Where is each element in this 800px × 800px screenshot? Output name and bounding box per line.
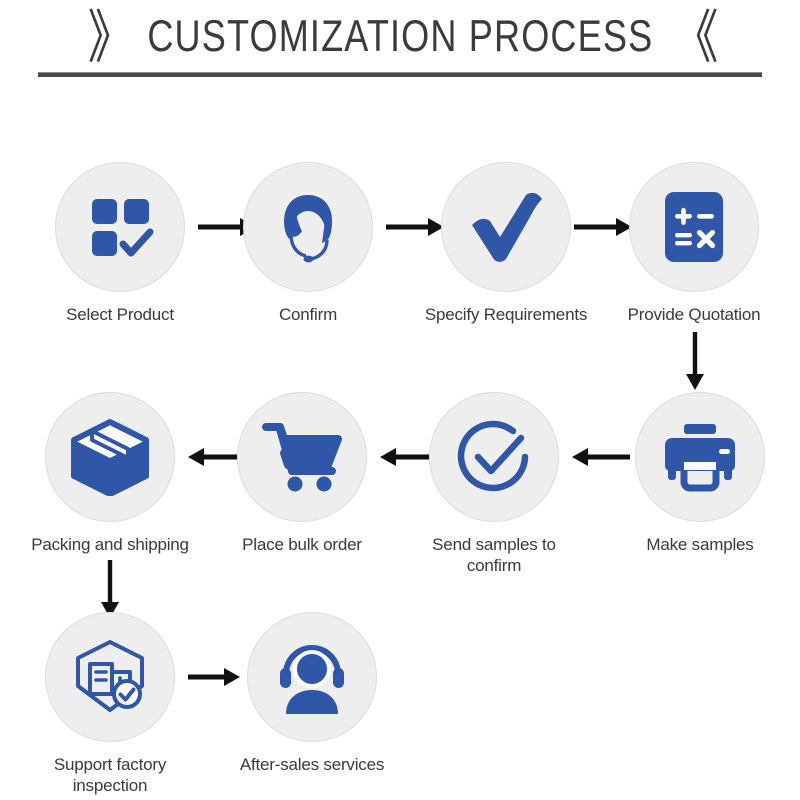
flow-step-send-samples-to-confirm[interactable]: Send samples to confirm <box>410 392 578 576</box>
icon-circle <box>247 612 377 742</box>
icon-circle <box>45 612 175 742</box>
checkmark-icon <box>466 189 546 265</box>
flow-step-provide-quotation[interactable]: Provide Quotation <box>610 162 778 325</box>
flow-step-label: Confirm <box>279 304 337 325</box>
page-title: CUSTOMIZATION PROCESS <box>147 15 653 60</box>
flow-step-label: Support factory inspection <box>54 754 166 796</box>
printer-icon <box>662 422 738 492</box>
arrow-quotation-to-samples <box>681 330 709 392</box>
flow-step-label: Make samples <box>646 534 753 555</box>
icon-circle <box>429 392 559 522</box>
flow-step-after-sales-services[interactable]: After-sales services <box>228 612 396 775</box>
title-divider <box>38 72 762 77</box>
arrow-packing-to-inspection <box>96 558 124 620</box>
icon-circle <box>243 162 373 292</box>
shopping-cart-icon <box>262 421 342 493</box>
flow-step-confirm[interactable]: Confirm <box>224 162 392 325</box>
flow-step-specify-requirements[interactable]: Specify Requirements <box>422 162 590 325</box>
title-row: 》 CUSTOMIZATION PROCESS 《 <box>0 8 800 66</box>
calculator-icon <box>658 188 730 266</box>
circle-check-icon <box>455 418 533 496</box>
flow-step-label: Specify Requirements <box>425 304 587 325</box>
flow-step-label: Provide Quotation <box>628 304 761 325</box>
flow-step-place-bulk-order[interactable]: Place bulk order <box>218 392 386 555</box>
icon-circle <box>635 392 765 522</box>
flow-step-label: Packing and shipping <box>31 534 189 555</box>
factory-inspection-shield-icon <box>70 638 150 716</box>
flow-step-label: Send samples to confirm <box>410 534 578 576</box>
double-chevron-right-icon: 》 <box>88 8 128 66</box>
package-box-icon <box>70 418 150 496</box>
flow-step-make-samples[interactable]: Make samples <box>616 392 784 555</box>
headset-agent-icon <box>269 188 347 266</box>
flow-step-label: Place bulk order <box>242 534 362 555</box>
icon-circle <box>45 392 175 522</box>
icon-circle <box>629 162 759 292</box>
grid-check-icon <box>84 191 156 263</box>
icon-circle <box>441 162 571 292</box>
flow-step-label: After-sales services <box>240 754 384 775</box>
icon-circle <box>237 392 367 522</box>
customer-support-icon <box>272 640 352 714</box>
flow-step-select-product[interactable]: Select Product <box>36 162 204 325</box>
flow-step-label: Select Product <box>66 304 174 325</box>
icon-circle <box>55 162 185 292</box>
page-header: 》 CUSTOMIZATION PROCESS 《 <box>0 0 800 90</box>
double-chevron-left-icon: 《 <box>672 8 712 66</box>
flow-step-packing-and-shipping[interactable]: Packing and shipping <box>26 392 194 555</box>
flow-step-support-factory-inspection[interactable]: Support factory inspection <box>26 612 194 796</box>
